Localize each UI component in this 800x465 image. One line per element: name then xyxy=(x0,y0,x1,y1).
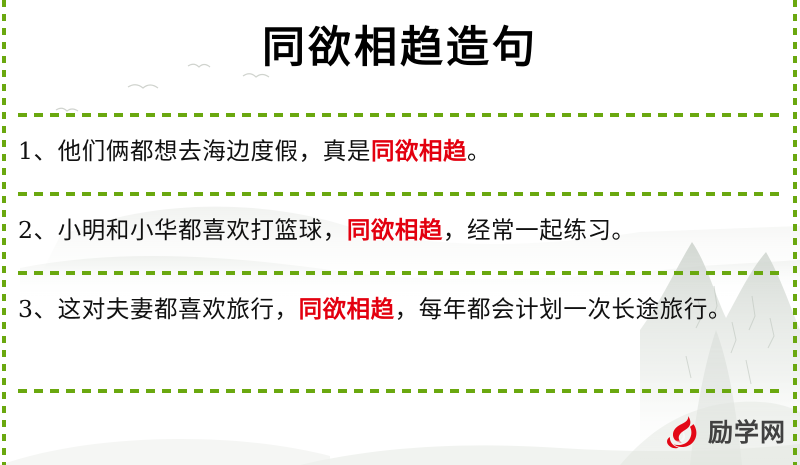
sentence-number-1: 1、 xyxy=(18,137,58,165)
site-logo: 励学网 xyxy=(662,412,786,452)
divider-2 xyxy=(18,192,782,196)
divider-3 xyxy=(18,271,782,275)
page-root: 同欲相趋造句 1、他们俩都想去海边度假，真是同欲相趋。 2、小明和小华都喜欢打篮… xyxy=(0,0,800,465)
sentence-item-1: 1、他们俩都想去海边度假，真是同欲相趋。 xyxy=(18,131,778,171)
sentence-item-2: 2、小明和小华都喜欢打篮球，同欲相趋，经常一起练习。 xyxy=(18,210,778,250)
divider-1 xyxy=(18,113,782,117)
sentence-item-3: 3、这对夫妻都喜欢旅行，同欲相趋，每年都会计划一次长途旅行。 xyxy=(18,289,778,329)
sentence-text-after-1: 。 xyxy=(467,137,491,165)
logo-text: 励学网 xyxy=(708,420,786,445)
idiom-highlight-3: 同欲相趋 xyxy=(299,295,395,323)
flame-swirl-icon xyxy=(662,412,702,452)
sentence-text-after-3: ，每年都会计划一次长途旅行。 xyxy=(395,295,732,323)
sentence-text-after-2: ，经常一起练习。 xyxy=(443,216,636,244)
idiom-highlight-1: 同欲相趋 xyxy=(371,137,467,165)
divider-4 xyxy=(18,389,782,393)
sentence-number-3: 3、 xyxy=(18,295,58,323)
foreground-wash-left xyxy=(0,439,330,465)
sentence-text-before-1: 他们俩都想去海边度假，真是 xyxy=(58,137,371,165)
sentence-text-before-3: 这对夫妻都喜欢旅行， xyxy=(58,295,299,323)
page-title: 同欲相趋造句 xyxy=(0,22,800,76)
sentence-text-before-2: 小明和小华都喜欢打篮球， xyxy=(58,216,347,244)
sentence-number-2: 2、 xyxy=(18,216,58,244)
idiom-highlight-2: 同欲相趋 xyxy=(347,216,443,244)
